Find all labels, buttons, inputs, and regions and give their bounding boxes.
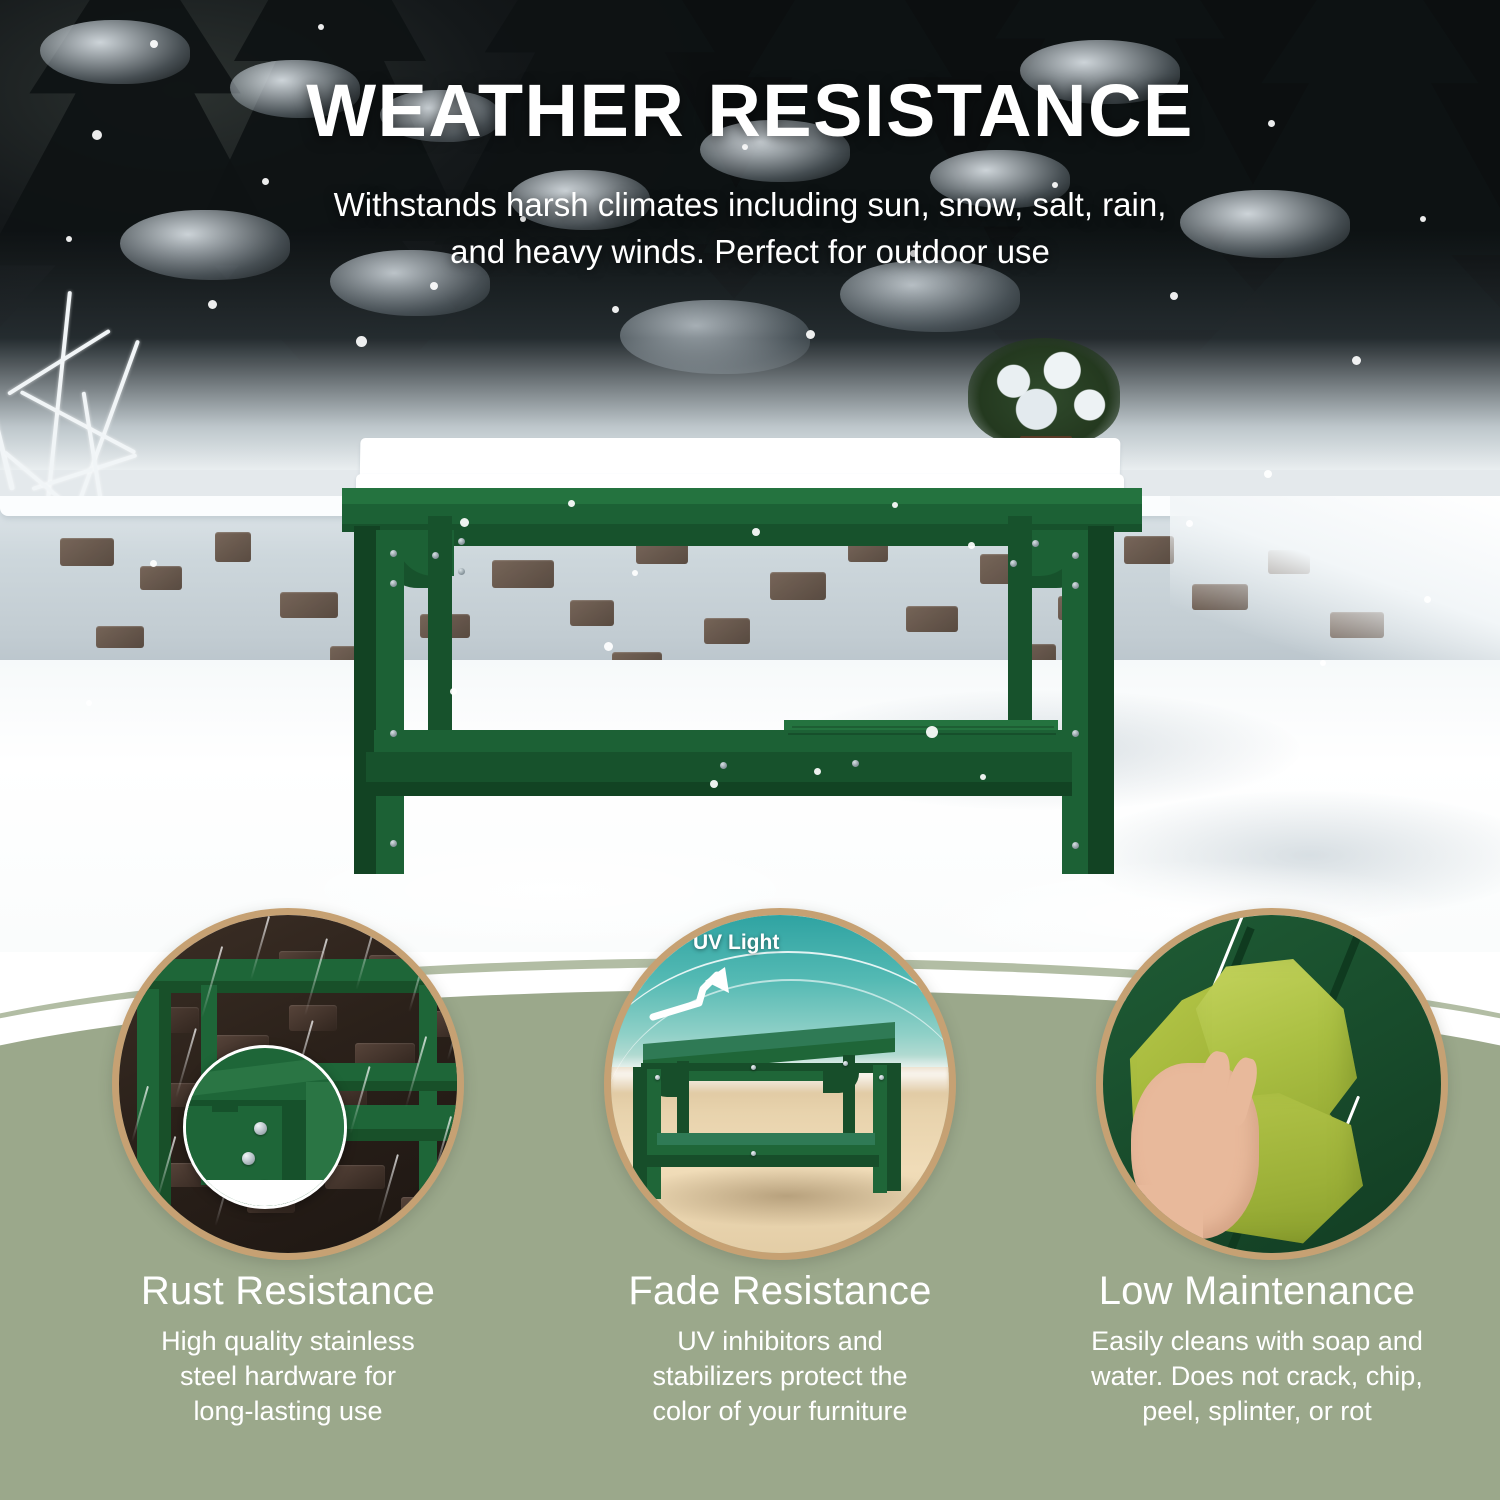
feature-desc-line3: long-lasting use <box>193 1396 382 1426</box>
feature-image-low-maintenance <box>1096 908 1448 1260</box>
hero-subtitle-line2: and heavy winds. Perfect for outdoor use <box>450 233 1050 270</box>
uv-light-arrow-icon <box>647 959 757 1029</box>
feature-title: Low Maintenance <box>1022 1268 1492 1314</box>
feature-desc-line3: color of your furniture <box>652 1396 907 1426</box>
feature-title: Rust Resistance <box>78 1268 498 1314</box>
infographic-canvas: WEATHER RESISTANCE Withstands harsh clim… <box>0 0 1500 1500</box>
feature-title: Fade Resistance <box>570 1268 990 1314</box>
feature-desc-line2: steel hardware for <box>180 1361 396 1391</box>
feature-caption-fade-resistance: Fade Resistance UV inhibitors and stabil… <box>570 1268 990 1429</box>
hero-snow-scene: WEATHER RESISTANCE Withstands harsh clim… <box>0 0 1500 952</box>
hardware-magnifier-inset <box>183 1045 347 1209</box>
feature-desc-line1: Easily cleans with soap and <box>1091 1326 1423 1356</box>
feature-caption-low-maintenance: Low Maintenance Easily cleans with soap … <box>1022 1268 1492 1429</box>
product-bench <box>332 430 1172 900</box>
feature-desc-line3: peel, splinter, or rot <box>1142 1396 1372 1426</box>
feature-desc-line2: stabilizers protect the <box>652 1361 907 1391</box>
hero-subtitle: Withstands harsh climates including sun,… <box>270 182 1230 276</box>
feature-description: UV inhibitors and stabilizers protect th… <box>570 1324 990 1429</box>
feature-desc-line2: water. Does not crack, chip, <box>1091 1361 1423 1391</box>
feature-image-rust-resistance <box>112 908 464 1260</box>
feature-description: High quality stainless steel hardware fo… <box>78 1324 498 1429</box>
feature-desc-line1: High quality stainless <box>161 1326 415 1356</box>
feature-caption-rust-resistance: Rust Resistance High quality stainless s… <box>78 1268 498 1429</box>
feature-description: Easily cleans with soap and water. Does … <box>1022 1324 1492 1429</box>
page-title: WEATHER RESISTANCE <box>0 74 1500 148</box>
feature-image-fade-resistance: UV Light <box>604 908 956 1260</box>
uv-light-label: UV Light <box>693 931 779 955</box>
hero-subtitle-line1: Withstands harsh climates including sun,… <box>334 186 1167 223</box>
feature-desc-line1: UV inhibitors and <box>677 1326 883 1356</box>
